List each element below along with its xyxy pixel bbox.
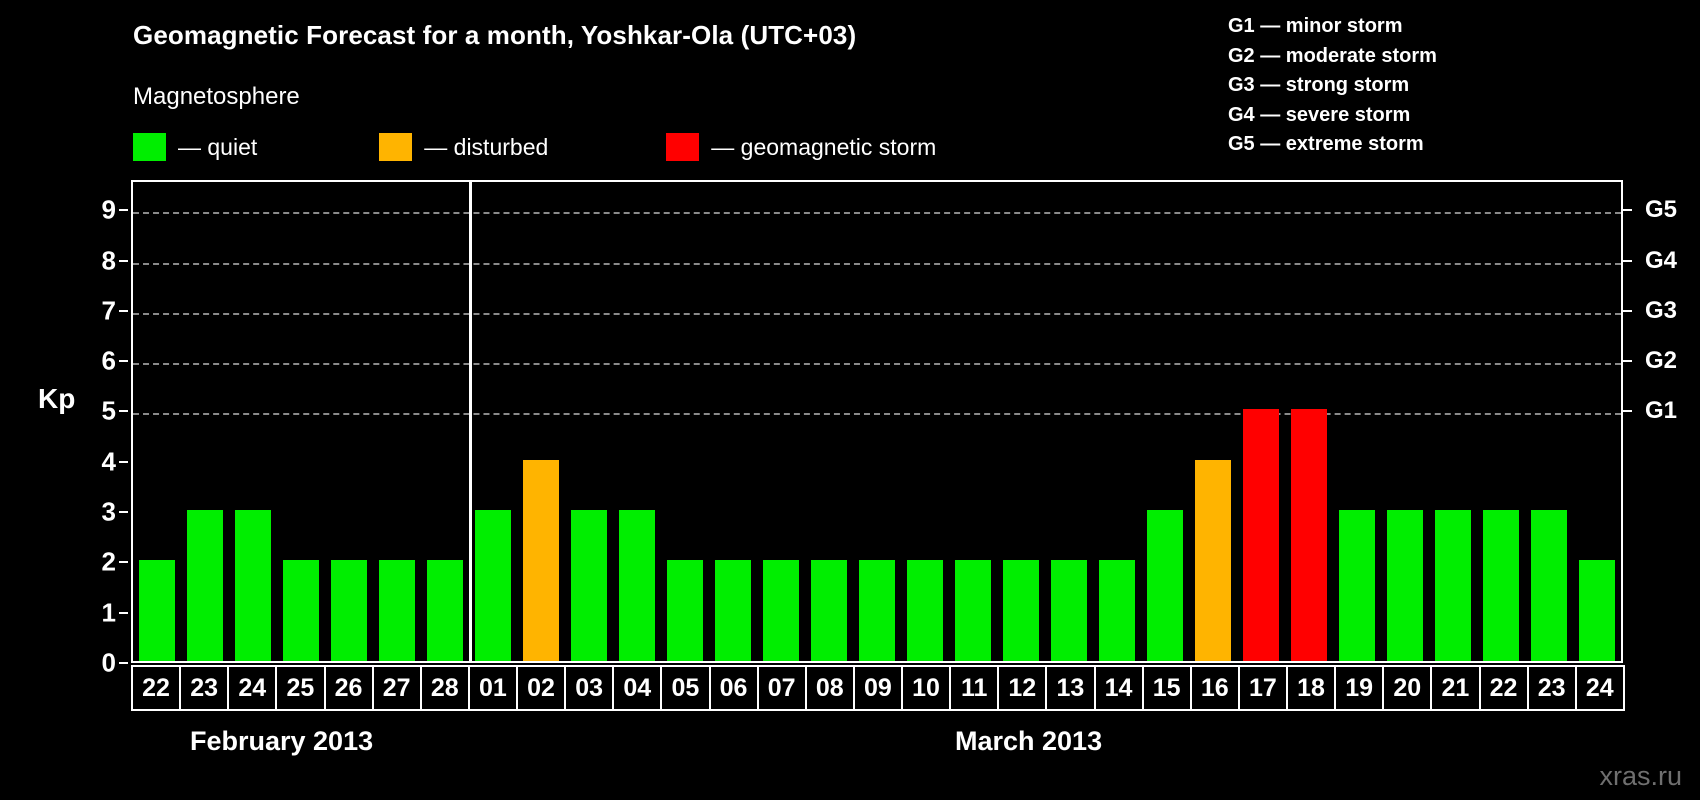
day-label-march-10[interactable]: 10 xyxy=(901,665,951,711)
y-tick-mark-1 xyxy=(119,612,128,614)
bar-slot[interactable] xyxy=(613,182,661,661)
y-axis-kp: 0123456789 xyxy=(60,180,128,663)
day-label-march-13[interactable]: 13 xyxy=(1045,665,1095,711)
day-label-march-18[interactable]: 18 xyxy=(1286,665,1336,711)
bar-day-06-kp-2[interactable] xyxy=(715,560,751,661)
g-legend-row-3: G3 — strong storm xyxy=(1228,71,1628,101)
day-label-march-23[interactable]: 23 xyxy=(1527,665,1577,711)
y-tick-label-3: 3 xyxy=(102,497,116,528)
bar-slot[interactable] xyxy=(469,182,517,661)
bar-day-03-kp-3[interactable] xyxy=(571,510,607,661)
bar-slot[interactable] xyxy=(181,182,229,661)
bar-slot[interactable] xyxy=(853,182,901,661)
day-label-february-24[interactable]: 24 xyxy=(227,665,277,711)
bar-day-15-kp-3[interactable] xyxy=(1147,510,1183,661)
g-legend-row-4: G4 — severe storm xyxy=(1228,101,1628,131)
day-label-february-28[interactable]: 28 xyxy=(420,665,470,711)
day-label-march-06[interactable]: 06 xyxy=(709,665,759,711)
bar-slot[interactable] xyxy=(517,182,565,661)
y-tick-label-2: 2 xyxy=(102,547,116,578)
g-legend-row-2: G2 — moderate storm xyxy=(1228,42,1628,72)
bar-slot[interactable] xyxy=(1333,182,1381,661)
bar-day-24-kp-2[interactable] xyxy=(1579,560,1615,661)
y-tick-label-5: 5 xyxy=(102,396,116,427)
y-tick-label-1: 1 xyxy=(102,597,116,628)
bar-day-28-kp-2[interactable] xyxy=(427,560,463,661)
bar-slot[interactable] xyxy=(709,182,757,661)
bar-day-16-kp-4[interactable] xyxy=(1195,460,1231,661)
plot-inner xyxy=(133,182,1621,661)
g-tick-mark-G4 xyxy=(1623,260,1632,262)
bar-slot[interactable] xyxy=(757,182,805,661)
bar-slot[interactable] xyxy=(133,182,181,661)
day-label-march-16[interactable]: 16 xyxy=(1190,665,1240,711)
legend-label-disturbed: — disturbed xyxy=(424,134,548,161)
y-tick-mark-5 xyxy=(119,410,128,412)
bar-slot[interactable] xyxy=(373,182,421,661)
g-tick-mark-G1 xyxy=(1623,410,1632,412)
day-label-march-19[interactable]: 19 xyxy=(1334,665,1384,711)
y-tick-label-6: 6 xyxy=(102,346,116,377)
g-legend-row-5: G5 — extreme storm xyxy=(1228,130,1628,160)
legend-swatch-storm-icon xyxy=(666,133,699,161)
y-tick-mark-4 xyxy=(119,461,128,463)
month-separator-line xyxy=(469,182,472,661)
legend-item-storm: — geomagnetic storm xyxy=(666,132,936,162)
day-label-march-14[interactable]: 14 xyxy=(1094,665,1144,711)
day-label-march-01[interactable]: 01 xyxy=(468,665,518,711)
watermark: xras.ru xyxy=(1599,761,1682,792)
bar-day-23-kp-3[interactable] xyxy=(187,510,223,661)
bar-slot[interactable] xyxy=(1381,182,1429,661)
g-tick-mark-G3 xyxy=(1623,310,1632,312)
day-label-march-11[interactable]: 11 xyxy=(949,665,999,711)
y-tick-label-8: 8 xyxy=(102,245,116,276)
bar-slot[interactable] xyxy=(997,182,1045,661)
bar-day-10-kp-2[interactable] xyxy=(907,560,943,661)
bar-slot[interactable] xyxy=(1477,182,1525,661)
g-scale-legend: G1 — minor stormG2 — moderate stormG3 — … xyxy=(1228,12,1628,160)
bar-day-27-kp-2[interactable] xyxy=(379,560,415,661)
y-tick-label-0: 0 xyxy=(102,648,116,679)
chart-plot-area xyxy=(131,180,1623,663)
day-label-march-12[interactable]: 12 xyxy=(997,665,1047,711)
bar-day-18-kp-5[interactable] xyxy=(1291,409,1327,661)
day-label-february-26[interactable]: 26 xyxy=(324,665,374,711)
bar-slot[interactable] xyxy=(901,182,949,661)
bar-day-22-kp-3[interactable] xyxy=(1483,510,1519,661)
bar-day-04-kp-3[interactable] xyxy=(619,510,655,661)
bar-day-20-kp-3[interactable] xyxy=(1387,510,1423,661)
bar-day-01-kp-3[interactable] xyxy=(475,510,511,661)
g-tick-label-G2: G2 xyxy=(1645,347,1677,375)
day-label-february-25[interactable]: 25 xyxy=(275,665,325,711)
day-label-march-17[interactable]: 17 xyxy=(1238,665,1288,711)
y-tick-mark-2 xyxy=(119,561,128,563)
day-label-march-20[interactable]: 20 xyxy=(1382,665,1432,711)
legend-item-disturbed: — disturbed xyxy=(379,132,548,162)
g-tick-mark-G2 xyxy=(1623,360,1632,362)
bar-day-13-kp-2[interactable] xyxy=(1051,560,1087,661)
magnetosphere-section-label: Magnetosphere xyxy=(133,83,300,111)
bar-slot[interactable] xyxy=(805,182,853,661)
bar-day-12-kp-2[interactable] xyxy=(1003,560,1039,661)
page-title: Geomagnetic Forecast for a month, Yoshka… xyxy=(133,20,856,51)
day-axis: 2223242526272801020304050607080910111213… xyxy=(131,665,1623,711)
g-legend-row-1: G1 — minor storm xyxy=(1228,12,1628,42)
day-label-march-09[interactable]: 09 xyxy=(853,665,903,711)
y-tick-mark-6 xyxy=(119,360,128,362)
bar-slot[interactable] xyxy=(1141,182,1189,661)
month-label-february: February 2013 xyxy=(190,726,373,757)
day-label-march-24[interactable]: 24 xyxy=(1575,665,1625,711)
bar-day-11-kp-2[interactable] xyxy=(955,560,991,661)
y-tick-mark-3 xyxy=(119,511,128,513)
magnetosphere-legend: — quiet— disturbed— geomagnetic storm xyxy=(133,132,936,162)
bar-slot[interactable] xyxy=(229,182,277,661)
day-label-march-21[interactable]: 21 xyxy=(1430,665,1480,711)
day-label-march-22[interactable]: 22 xyxy=(1479,665,1529,711)
day-label-march-08[interactable]: 08 xyxy=(805,665,855,711)
legend-label-quiet: — quiet xyxy=(178,134,257,161)
day-label-february-22[interactable]: 22 xyxy=(131,665,181,711)
bar-slot[interactable] xyxy=(1237,182,1285,661)
bar-day-22-kp-2[interactable] xyxy=(139,560,175,661)
y-axis-title: Kp xyxy=(38,383,75,415)
day-label-march-03[interactable]: 03 xyxy=(564,665,614,711)
bar-day-25-kp-2[interactable] xyxy=(283,560,319,661)
legend-swatch-disturbed-icon xyxy=(379,133,412,161)
bar-day-24-kp-3[interactable] xyxy=(235,510,271,661)
bar-slot[interactable] xyxy=(661,182,709,661)
bar-slot[interactable] xyxy=(565,182,613,661)
bar-day-19-kp-3[interactable] xyxy=(1339,510,1375,661)
bar-slot[interactable] xyxy=(325,182,373,661)
bar-slot[interactable] xyxy=(1045,182,1093,661)
y-tick-label-7: 7 xyxy=(102,295,116,326)
day-label-march-02[interactable]: 02 xyxy=(516,665,566,711)
day-label-february-27[interactable]: 27 xyxy=(372,665,422,711)
day-label-march-15[interactable]: 15 xyxy=(1142,665,1192,711)
bar-day-02-kp-4[interactable] xyxy=(523,460,559,661)
g-tick-label-G4: G4 xyxy=(1645,247,1677,275)
y-tick-mark-9 xyxy=(119,209,128,211)
y-tick-label-4: 4 xyxy=(102,446,116,477)
bar-day-08-kp-2[interactable] xyxy=(811,560,847,661)
bar-slot[interactable] xyxy=(1429,182,1477,661)
legend-swatch-quiet-icon xyxy=(133,133,166,161)
day-label-february-23[interactable]: 23 xyxy=(179,665,229,711)
bar-day-05-kp-2[interactable] xyxy=(667,560,703,661)
bar-day-07-kp-2[interactable] xyxy=(763,560,799,661)
legend-label-storm: — geomagnetic storm xyxy=(711,134,936,161)
bar-slot[interactable] xyxy=(421,182,469,661)
y-tick-mark-0 xyxy=(119,662,128,664)
g-tick-label-G1: G1 xyxy=(1645,397,1677,425)
g-tick-mark-G5 xyxy=(1623,209,1632,211)
g-axis-storm-scale: G1G2G3G4G5 xyxy=(1623,180,1697,663)
bar-slot[interactable] xyxy=(1093,182,1141,661)
bar-series xyxy=(133,182,1621,661)
bar-day-23-kp-3[interactable] xyxy=(1531,510,1567,661)
g-tick-label-G5: G5 xyxy=(1645,196,1677,224)
bar-slot[interactable] xyxy=(277,182,325,661)
bar-slot[interactable] xyxy=(949,182,997,661)
y-tick-mark-8 xyxy=(119,260,128,262)
y-tick-mark-7 xyxy=(119,310,128,312)
month-label-march: March 2013 xyxy=(955,726,1102,757)
g-tick-label-G3: G3 xyxy=(1645,297,1677,325)
bar-slot[interactable] xyxy=(1189,182,1237,661)
bar-day-14-kp-2[interactable] xyxy=(1099,560,1135,661)
y-tick-label-9: 9 xyxy=(102,195,116,226)
bar-slot[interactable] xyxy=(1285,182,1333,661)
bar-slot[interactable] xyxy=(1573,182,1621,661)
bar-slot[interactable] xyxy=(1525,182,1573,661)
day-label-march-04[interactable]: 04 xyxy=(612,665,662,711)
bar-day-17-kp-5[interactable] xyxy=(1243,409,1279,661)
legend-item-quiet: — quiet xyxy=(133,132,257,162)
bar-day-21-kp-3[interactable] xyxy=(1435,510,1471,661)
bar-day-09-kp-2[interactable] xyxy=(859,560,895,661)
day-label-march-05[interactable]: 05 xyxy=(660,665,710,711)
day-label-march-07[interactable]: 07 xyxy=(757,665,807,711)
bar-day-26-kp-2[interactable] xyxy=(331,560,367,661)
